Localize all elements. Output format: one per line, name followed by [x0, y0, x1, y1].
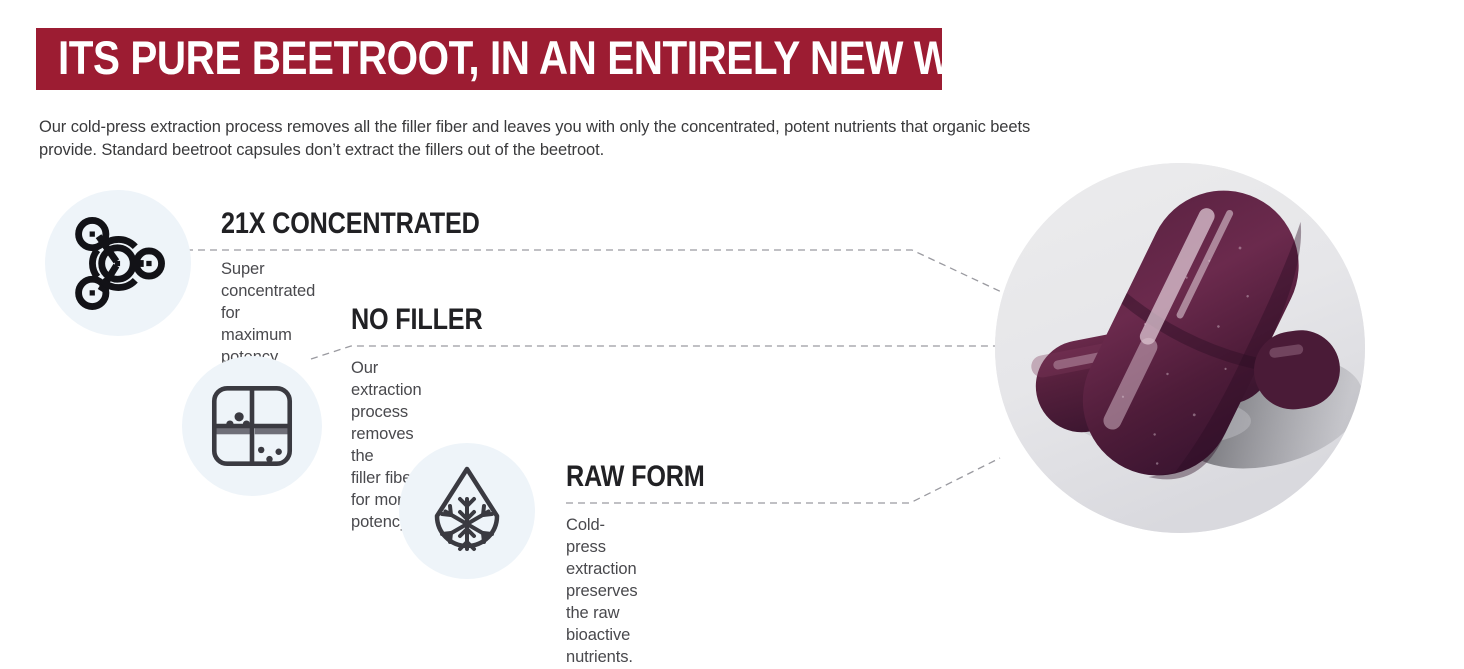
filter-sieve-icon: [206, 380, 298, 472]
headline-banner: ITS PURE BEETROOT, IN AN ENTIRELY NEW WA…: [36, 28, 942, 90]
product-photo: [995, 163, 1365, 533]
molecule-icon: [66, 211, 171, 316]
feature-desc-concentrated: Super concentrated for maximum potency: [221, 259, 315, 369]
droplet-snowflake-icon: [417, 461, 517, 561]
icon-circle-raw-form: [399, 443, 535, 579]
feature-title-raw-form: RAW FORM: [566, 462, 705, 492]
feature-title-concentrated: 21X CONCENTRATED: [221, 209, 480, 239]
icon-circle-no-filler: [182, 356, 322, 496]
beetroot-capsules-image: [995, 163, 1365, 533]
feature-desc-raw-form: Cold-press extraction preserves the raw …: [566, 515, 638, 669]
headline-text: ITS PURE BEETROOT, IN AN ENTIRELY NEW WA…: [58, 34, 1007, 81]
intro-paragraph: Our cold-press extraction process remove…: [39, 116, 1039, 162]
feature-title-no-filler: NO FILLER: [351, 305, 482, 335]
icon-circle-concentrated: [45, 190, 191, 336]
